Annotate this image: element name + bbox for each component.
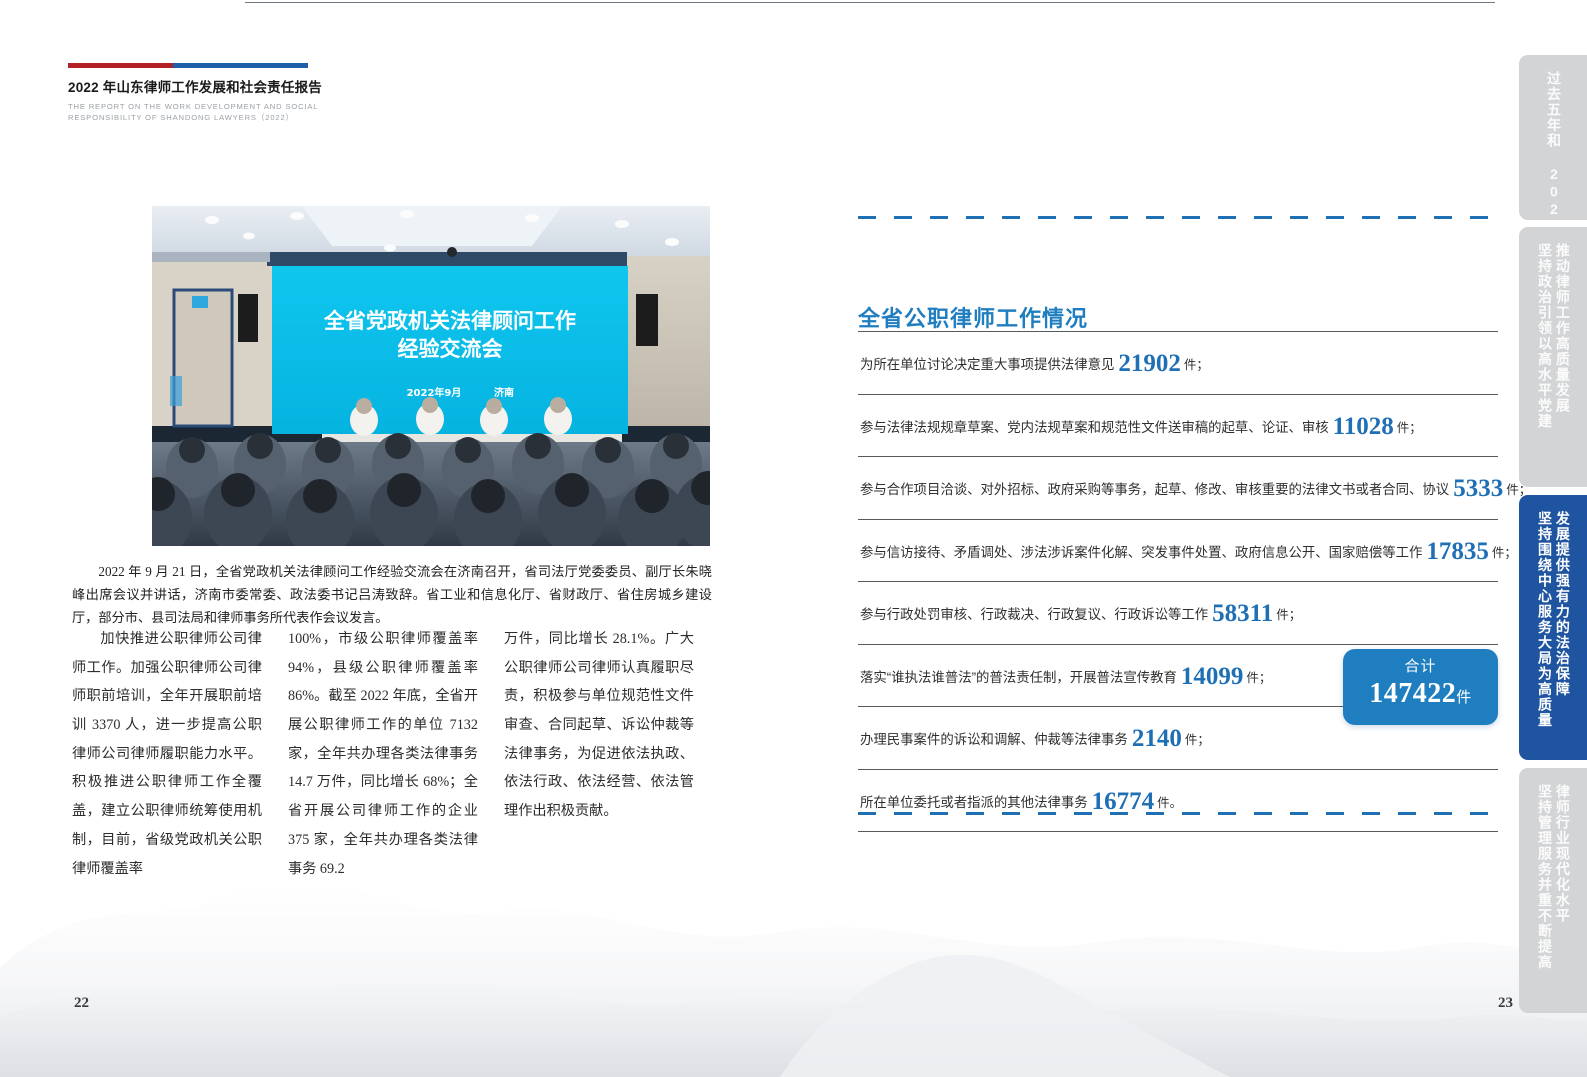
report-title: 2022 年山东律师工作发展和社会责任报告 xyxy=(68,79,508,97)
stat-value: 17835 xyxy=(1426,538,1489,565)
stat-label: 为所在单位讨论决定重大事项提供法律意见 xyxy=(860,357,1114,372)
stat-unit: 件。 xyxy=(1157,796,1182,810)
dashed-rule-top xyxy=(858,216,1498,219)
stat-unit: 件； xyxy=(1276,608,1301,622)
report-subtitle-line2: RESPONSIBILITY OF SHANDONG LAWYERS（2022） xyxy=(68,112,508,123)
total-value: 147422 xyxy=(1369,678,1456,709)
stat-unit: 件； xyxy=(1184,358,1209,372)
stat-value: 5333 xyxy=(1453,475,1503,502)
body-column-1: 加快推进公职律师公司律师工作。加强公职律师公司律师职前培训，全年开展职前培训 3… xyxy=(72,625,262,915)
side-tab-navigation: 过去五年和 2022 年工作回顾 推动律师工作高质量发展 坚持政治引领以高水平党… xyxy=(1510,55,1587,955)
right-page: 全省公职律师工作情况 为所在单位讨论决定重大事项提供法律意见21902件； 参与… xyxy=(793,0,1587,1077)
total-label: 合计 xyxy=(1343,649,1498,676)
conference-photo: 全省党政机关法律顾问工作 经验交流会 2022年9月 济南 xyxy=(152,206,710,546)
stat-value: 11028 xyxy=(1333,413,1394,440)
masthead-accent-bars xyxy=(68,63,308,68)
side-tab-label-secondary: 坚持政治引领以高水平党建 xyxy=(1535,243,1553,429)
total-value-wrap: 147422件 xyxy=(1343,676,1498,711)
page-number-left: 22 xyxy=(74,995,89,1012)
stat-label: 参与信访接待、矛盾调处、涉法涉诉案件化解、突发事件处置、政府信息公开、国家赔偿等… xyxy=(860,545,1422,560)
masthead: 2022 年山东律师工作发展和社会责任报告 THE REPORT ON THE … xyxy=(68,63,508,123)
stat-row: 参与行政处罚审核、行政裁决、行政复议、行政诉讼等工作58311件； xyxy=(858,581,1498,644)
accent-bar-red xyxy=(68,63,173,68)
stat-value: 16774 xyxy=(1092,788,1155,815)
body-text-columns: 加快推进公职律师公司律师工作。加强公职律师公司律师职前培训，全年开展职前培训 3… xyxy=(72,625,720,915)
stat-label: 办理民事案件的诉讼和调解、仲裁等法律事务 xyxy=(860,732,1128,747)
side-tab-political-leadership[interactable]: 推动律师工作高质量发展 坚持政治引领以高水平党建 xyxy=(1519,227,1587,487)
stat-unit: 件； xyxy=(1397,421,1422,435)
side-tab-rule-of-law-guarantee[interactable]: 发展提供强有力的法治保障 坚持围绕中心服务大局为高质量 xyxy=(1519,495,1587,760)
left-page: 2022 年山东律师工作发展和社会责任报告 THE REPORT ON THE … xyxy=(0,0,793,1077)
stat-label: 参与法律法规规章草案、党内法规草案和规范性文件送审稿的起草、论证、审核 xyxy=(860,420,1329,435)
stat-label: 落实“谁执法谁普法”的普法责任制，开展普法宣传教育 xyxy=(860,670,1177,685)
side-tab-past-five-years[interactable]: 过去五年和 2022 年工作回顾 xyxy=(1519,55,1587,220)
photo-caption: 2022 年 9 月 21 日，全省党政机关法律顾问工作经验交流会在济南召开，省… xyxy=(72,561,712,629)
side-tab-label-primary: 律师行业现代化水平 xyxy=(1553,784,1571,924)
svg-text:经验交流会: 经验交流会 xyxy=(398,337,503,361)
accent-bar-blue xyxy=(173,63,308,68)
stat-value: 14099 xyxy=(1181,663,1244,690)
stat-row: 参与合作项目洽谈、对外招标、政府采购等事务，起草、修改、审核重要的法律文书或者合… xyxy=(858,456,1498,519)
body-column-3: 万件，同比增长 28.1%。广大公职律师公司律师认真履职尽责，积极参与单位规范性… xyxy=(504,625,694,915)
stat-value: 21902 xyxy=(1118,350,1181,377)
side-tab-label-primary: 发展提供强有力的法治保障 xyxy=(1553,511,1571,697)
stat-unit: 件； xyxy=(1185,733,1210,747)
stat-label: 参与行政处罚审核、行政裁决、行政复议、行政诉讼等工作 xyxy=(860,607,1208,622)
page-number-right: 23 xyxy=(1498,995,1513,1012)
stat-row: 为所在单位讨论决定重大事项提供法律意见21902件； xyxy=(858,331,1498,394)
stat-unit: 件； xyxy=(1246,671,1271,685)
svg-text:2022年9月: 2022年9月 xyxy=(407,386,462,399)
page-spread: 2022 年山东律师工作发展和社会责任报告 THE REPORT ON THE … xyxy=(0,0,1587,1077)
stat-row: 参与法律法规规章草案、党内法规草案和规范性文件送审稿的起草、论证、审核11028… xyxy=(858,394,1498,457)
stat-row: 所在单位委托或者指派的其他法律事务16774件。 xyxy=(858,769,1498,833)
total-unit: 件 xyxy=(1456,689,1472,706)
report-subtitle-line1: THE REPORT ON THE WORK DEVELOPMENT AND S… xyxy=(68,101,508,112)
stat-value: 2140 xyxy=(1132,725,1182,752)
side-tab-label-secondary: 坚持围绕中心服务大局为高质量 xyxy=(1535,511,1553,728)
report-subtitle: THE REPORT ON THE WORK DEVELOPMENT AND S… xyxy=(68,101,508,123)
stat-row: 参与信访接待、矛盾调处、涉法涉诉案件化解、突发事件处置、政府信息公开、国家赔偿等… xyxy=(858,519,1498,582)
stat-label: 参与合作项目洽谈、对外招标、政府采购等事务，起草、修改、审核重要的法律文书或者合… xyxy=(860,482,1449,497)
total-badge: 合计 147422件 xyxy=(1343,649,1498,725)
stat-value: 58311 xyxy=(1212,600,1273,627)
section-title: 全省公职律师工作情况 xyxy=(858,301,1088,333)
statistics-list: 为所在单位讨论决定重大事项提供法律意见21902件； 参与法律法规规章草案、党内… xyxy=(858,331,1498,832)
stat-label: 所在单位委托或者指派的其他法律事务 xyxy=(860,795,1088,810)
dashed-rule-bottom xyxy=(858,812,1498,815)
svg-text:全省党政机关法律顾问工作: 全省党政机关法律顾问工作 xyxy=(323,309,576,333)
body-column-2: 100%，市级公职律师覆盖率 94%，县级公职律师覆盖率 86%。截至 2022… xyxy=(288,625,478,915)
side-tab-label-primary: 推动律师工作高质量发展 xyxy=(1553,243,1571,414)
side-tab-label-secondary: 坚持管理服务并重不断提高 xyxy=(1535,784,1553,970)
side-tab-modernization[interactable]: 律师行业现代化水平 坚持管理服务并重不断提高 xyxy=(1519,768,1587,1013)
svg-text:济南: 济南 xyxy=(494,386,514,399)
